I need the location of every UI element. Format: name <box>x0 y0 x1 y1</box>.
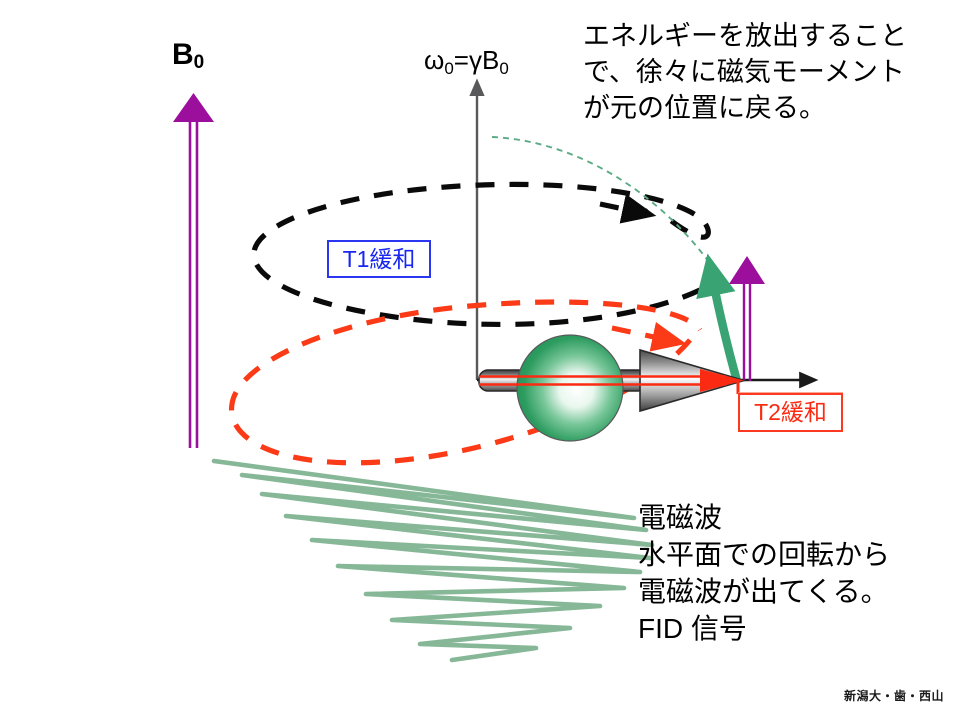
fid-waveform <box>214 461 652 660</box>
larmor-frequency-formula: ω0=γB0 <box>424 44 509 77</box>
author-credit: 新潟大・歯・西山 <box>0 689 944 704</box>
slide-canvas: B0 ω0=γB0 エネルギーを放出すること で、徐々に磁気モーメント が元の位… <box>0 0 954 714</box>
magnetic-moment-sphere <box>517 335 623 441</box>
t1-ellipse-arrowhead-path <box>490 195 648 212</box>
b0-label-main: B <box>172 38 194 71</box>
recovery-arrow <box>712 276 737 381</box>
b0-label-sub: 0 <box>194 52 205 73</box>
t1-relaxation-tag: T1緩和 <box>327 240 431 278</box>
b0-label: B0 <box>172 36 204 74</box>
omega-subscript: 0 <box>444 59 453 78</box>
t2-ellipse-arrow-tip <box>612 328 668 340</box>
fid-explanation-note: 電磁波 水平面での回転から 電磁波が出てくる。 FID 信号 <box>638 500 890 648</box>
energy-release-note: エネルギーを放出すること で、徐々に磁気モーメント が元の位置に戻る。 <box>583 19 907 127</box>
b0-field-arrow <box>173 93 214 448</box>
t2-relaxation-tag: T2緩和 <box>738 393 843 432</box>
omega-symbol: ω <box>424 45 444 75</box>
omega-b-subscript: 0 <box>499 59 508 78</box>
omega-equation-body: =γB <box>454 45 500 75</box>
t1-ellipse-arrow-tip <box>600 204 638 212</box>
